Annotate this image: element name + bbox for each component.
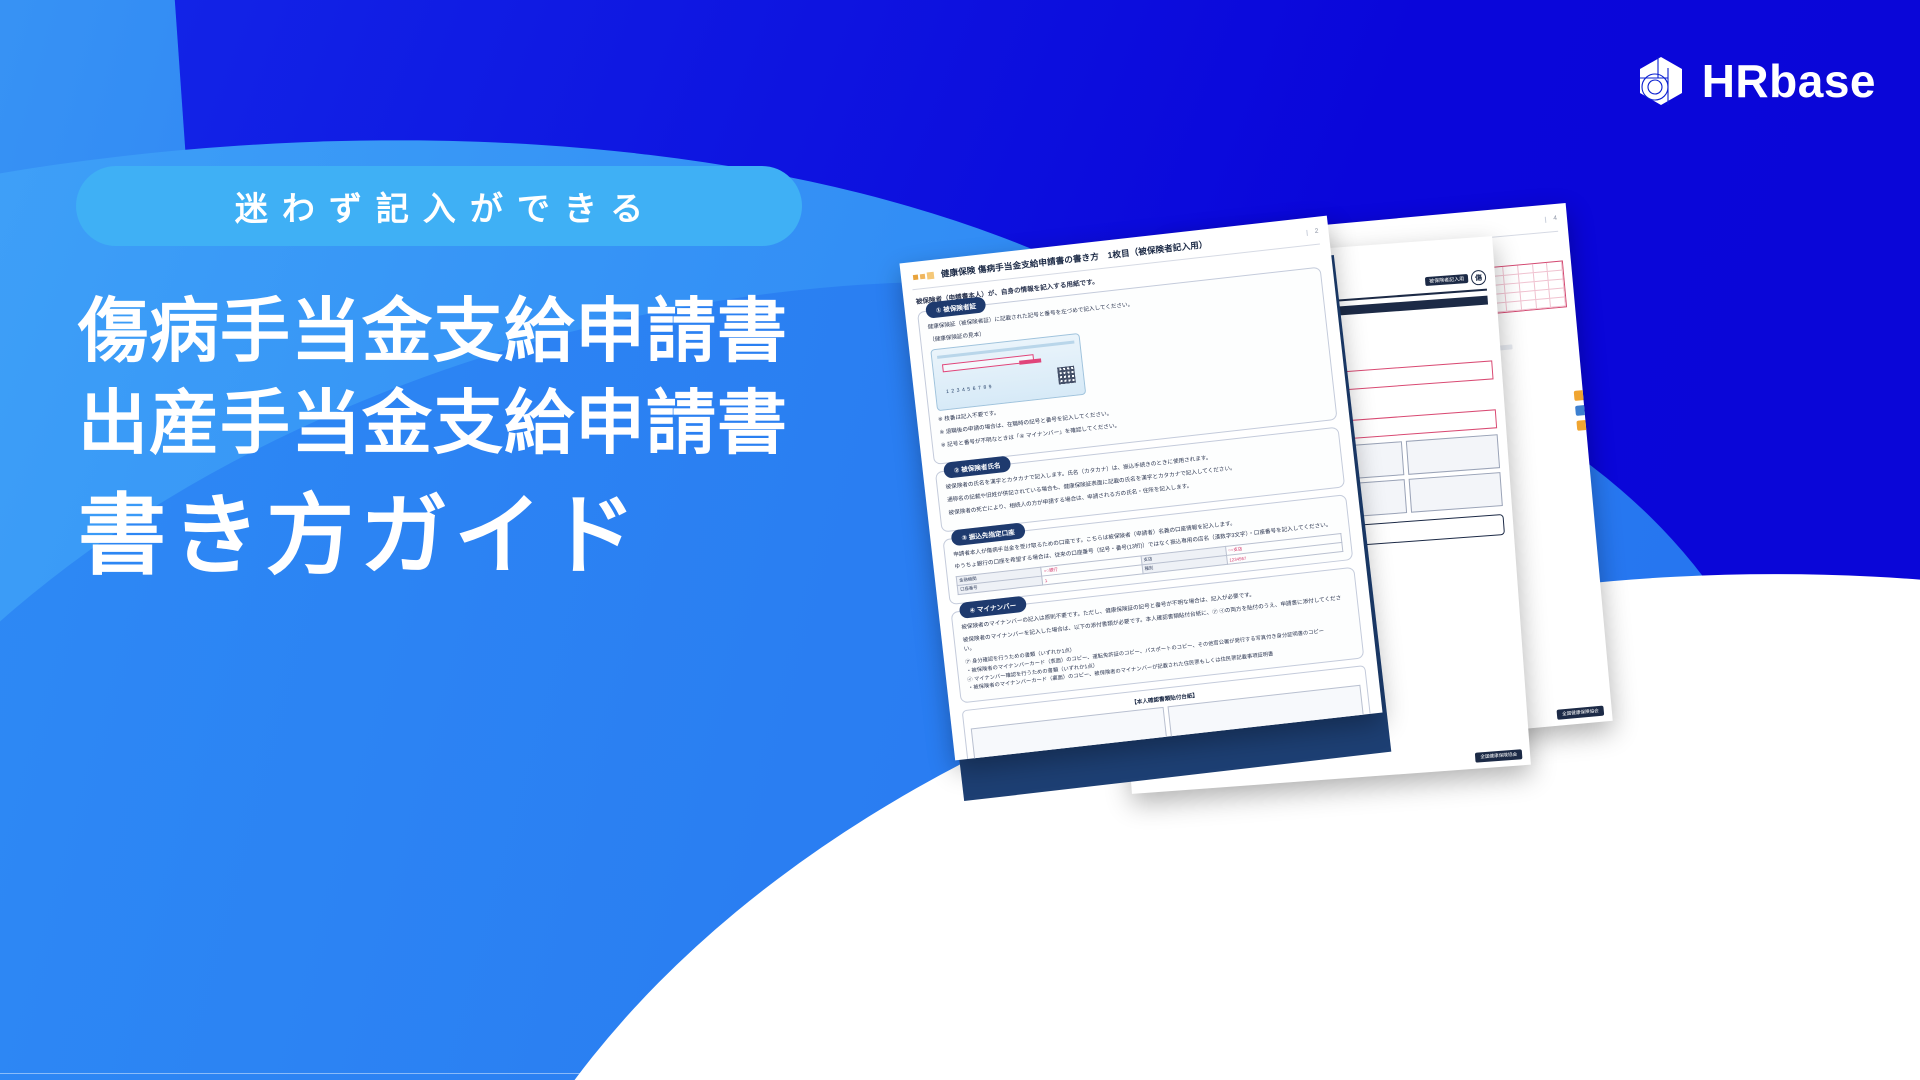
headline-line-2: 出産手当金支給申請書 <box>78 388 788 458</box>
sheet3-footer-chip: 全国健康保険協会 <box>1557 706 1604 720</box>
insurance-card-illustration: 1 2 3 4 5 6 7 8 9 <box>930 333 1086 411</box>
insurance-card-number: 1 2 3 4 5 6 7 8 9 <box>946 384 993 395</box>
sheet3-index-tabs <box>1574 390 1594 431</box>
sheet2-footer-chip: 全国健康保険協会 <box>1475 749 1522 762</box>
header-squares-icon <box>913 271 935 280</box>
page-title: 傷病手当金支給申請書 出産手当金支給申請書 書き方ガイド <box>78 296 788 580</box>
tab-sticker-blue-icon <box>1575 404 1592 415</box>
sheet2-badges: 被保険者記入用 傷 <box>1425 270 1487 289</box>
document-sheet-1: 健康保険 傷病手当金支給申請書の書き方 1枚目（被保険者記入用） 2 被保険者（… <box>899 216 1382 761</box>
sheet2-block <box>1405 434 1500 475</box>
brand-name: HRbase <box>1702 58 1876 104</box>
sheet1-page-number: 2 <box>1307 228 1319 236</box>
headline-line-3: 書き方ガイド <box>78 492 788 580</box>
eyebrow-pill: 迷わず記入ができる <box>76 166 802 246</box>
background-hairline <box>0 1073 1920 1074</box>
tab-sticker-orange-2-icon <box>1576 419 1593 430</box>
sheet3-page-number: 4 <box>1545 216 1557 224</box>
poster-canvas: HRbase 迷わず記入ができる 傷病手当金支給申請書 出産手当金支給申請書 書… <box>0 0 1920 1080</box>
qr-code-icon <box>1057 366 1076 385</box>
eyebrow-text: 迷わず記入ができる <box>221 182 657 230</box>
headline-line-1: 傷病手当金支給申請書 <box>78 296 788 366</box>
document-stack: き方 3枚目（事業主記入用） 4 入する用紙です。 <box>900 180 1660 820</box>
hrbase-hex-logo-icon <box>1638 56 1684 106</box>
tab-sticker-orange-icon <box>1574 390 1591 401</box>
sheet2-circle-stamp-icon: 傷 <box>1471 270 1487 286</box>
brand-logo[interactable]: HRbase <box>1638 56 1876 106</box>
sheet2-chip: 被保険者記入用 <box>1425 274 1469 286</box>
sheet2-block <box>1408 472 1503 513</box>
